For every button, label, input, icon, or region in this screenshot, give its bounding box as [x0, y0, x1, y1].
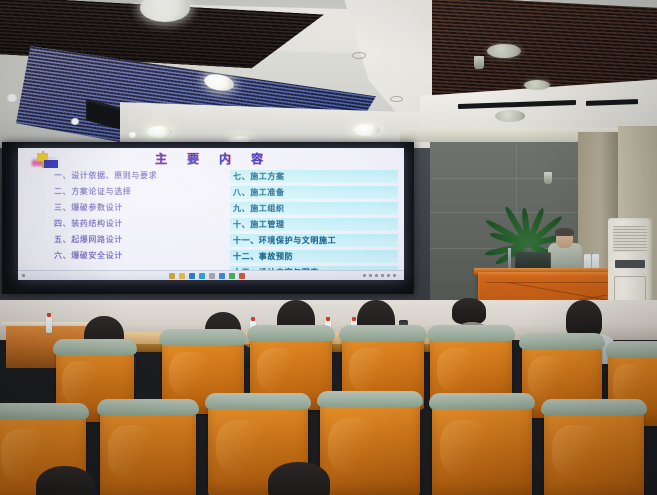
slide-left-column: 一、设计依据、原则与要求 二、方案论证与选择 三、爆破参数设计 四、装药结构设计…	[18, 170, 226, 270]
ac-display-panel	[615, 260, 645, 268]
slide-item: 十、施工管理	[230, 218, 398, 231]
audience-person	[452, 298, 486, 324]
recessed-downlight	[6, 94, 18, 102]
ac-grill	[613, 226, 647, 252]
taskbar-icons[interactable]	[128, 273, 286, 279]
wall-speaker	[544, 172, 552, 184]
ceiling-vent-ring	[390, 96, 403, 102]
auditorium-seat	[432, 398, 532, 495]
recessed-downlight	[70, 118, 80, 125]
auditorium-seat	[320, 396, 420, 495]
slide-item: 七、施工方案	[230, 170, 398, 183]
slide-title: 主 要 内 容	[18, 150, 404, 167]
presenter-hair	[555, 228, 574, 236]
slide-item: 十二、事故预防	[230, 250, 398, 263]
slide-right-column: 七、施工方案 八、施工准备 九、施工组织 十、施工管理 十一、环境保护与文明施工…	[226, 170, 404, 270]
slide-item: 十一、环境保护与文明施工	[230, 234, 398, 247]
browser-icon[interactable]	[179, 273, 185, 279]
ceiling-speaker	[474, 56, 484, 69]
ceiling-light	[352, 124, 380, 136]
ceiling-light	[495, 110, 525, 122]
slide-item: 九、施工组织	[230, 202, 398, 215]
ceiling-light	[487, 44, 521, 58]
slide-item: 八、施工准备	[230, 186, 398, 199]
mail-icon[interactable]	[199, 273, 205, 279]
slide-item: 五、起爆网路设计	[54, 234, 222, 245]
taskbar-start-area[interactable]	[18, 274, 128, 277]
ceiling-light	[524, 80, 550, 90]
slide-content: 一、设计依据、原则与要求 二、方案论证与选择 三、爆破参数设计 四、装药结构设计…	[18, 170, 404, 270]
audience-person-foreground	[36, 466, 94, 495]
projection-screen: 主 要 内 容 一、设计依据、原则与要求 二、方案论证与选择 三、爆破参数设计 …	[18, 148, 404, 280]
lecture-hall-photo: 主 要 内 容 一、设计依据、原则与要求 二、方案论证与选择 三、爆破参数设计 …	[0, 0, 657, 495]
ceiling-light	[146, 126, 172, 138]
taskbar-tray[interactable]	[286, 274, 404, 277]
media-icon[interactable]	[239, 273, 245, 279]
wall-panel-seam	[430, 178, 580, 179]
folder-icon[interactable]	[169, 273, 175, 279]
audience-person-foreground	[268, 462, 330, 495]
auditorium-seat	[544, 404, 644, 495]
slide-item: 六、爆破安全设计	[54, 250, 222, 261]
powerpoint-icon[interactable]	[209, 273, 215, 279]
auditorium-seat	[100, 404, 196, 495]
slide-item: 一、设计依据、原则与要求	[54, 170, 222, 181]
explorer-icon[interactable]	[219, 273, 225, 279]
edge-icon[interactable]	[189, 273, 195, 279]
recessed-downlight	[128, 132, 137, 138]
slide-item: 四、装药结构设计	[54, 218, 222, 229]
windows-taskbar[interactable]	[18, 270, 404, 280]
wechat-icon[interactable]	[229, 273, 235, 279]
slide-item: 二、方案论证与选择	[54, 186, 222, 197]
water-bottle	[46, 316, 52, 333]
slide-item: 三、爆破参数设计	[54, 202, 222, 213]
ceiling-vent-ring	[352, 52, 366, 59]
